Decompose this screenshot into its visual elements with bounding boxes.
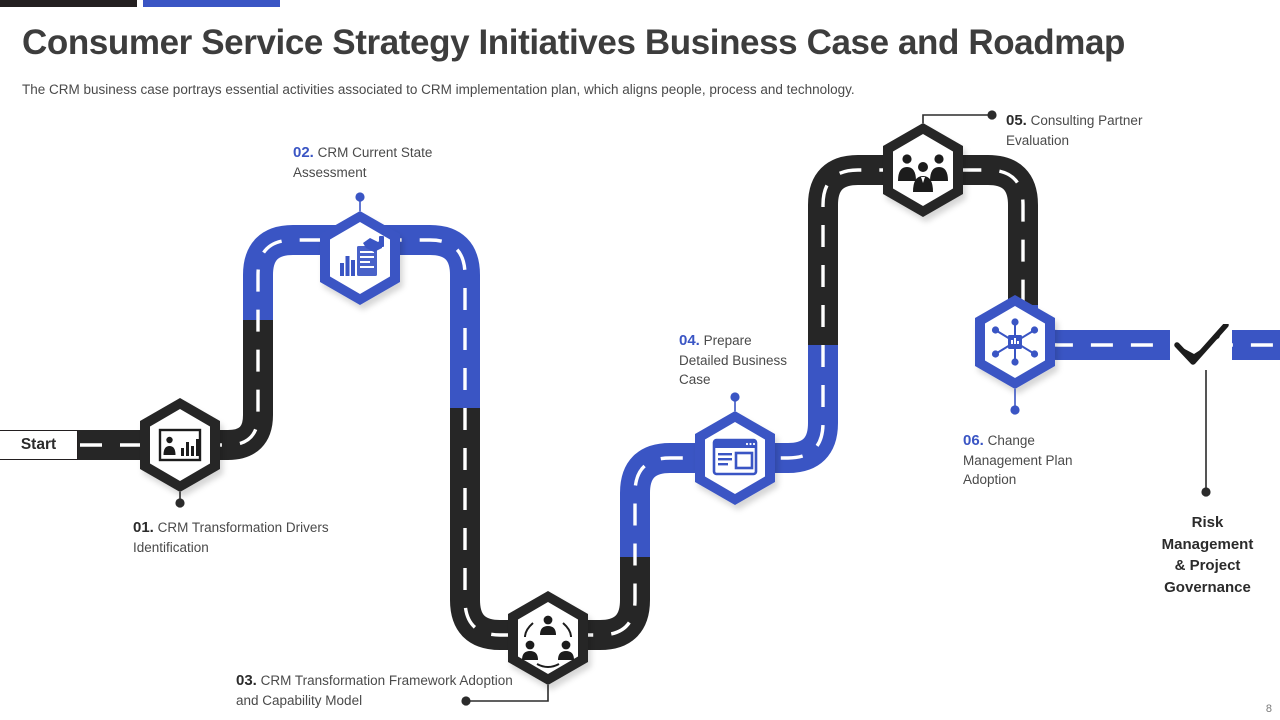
callout-step-5-number: 05. bbox=[1006, 112, 1027, 129]
check-icon bbox=[1170, 322, 1232, 370]
end-label-line-4: Governance bbox=[1130, 577, 1280, 599]
callout-step-2-number: 02. bbox=[293, 144, 314, 161]
callout-step-5-title: Consulting Partner Evaluation bbox=[1006, 113, 1142, 148]
callout-dots bbox=[175, 110, 1210, 705]
end-label-line-3: & Project bbox=[1130, 555, 1280, 577]
callout-step-3-number: 03. bbox=[236, 672, 257, 689]
callout-step-1-number: 01. bbox=[133, 519, 154, 536]
callout-step-3: 03. CRM Transformation Framework Adoptio… bbox=[236, 671, 516, 710]
road-path-graphic bbox=[0, 0, 1280, 720]
roadmap-node-3[interactable] bbox=[508, 591, 588, 685]
end-label-line-2: Management bbox=[1130, 534, 1280, 556]
callout-step-4-number: 04. bbox=[679, 332, 700, 349]
start-badge: Start bbox=[0, 430, 78, 460]
callout-step-6-number: 06. bbox=[963, 432, 984, 449]
callout-step-4: 04. Prepare Detailed Business Case bbox=[679, 331, 799, 390]
callout-step-1-title: CRM Transformation Drivers Identificatio… bbox=[133, 520, 329, 555]
roadmap-node-1[interactable] bbox=[140, 398, 220, 492]
road-segment-6-blue bbox=[1023, 305, 1280, 345]
callout-step-2-title: CRM Current State Assessment bbox=[293, 145, 432, 180]
callout-step-1: 01. CRM Transformation Drivers Identific… bbox=[133, 518, 333, 557]
page-number: 8 bbox=[1266, 703, 1272, 715]
callout-step-3-title: CRM Transformation Framework Adoption an… bbox=[236, 673, 513, 708]
callout-step-6: 06. Change Management Plan Adoption bbox=[963, 431, 1098, 490]
callout-step-5: 05. Consulting Partner Evaluation bbox=[1006, 111, 1196, 150]
end-label-line-1: Risk bbox=[1130, 512, 1280, 534]
callout-step-2: 02. CRM Current State Assessment bbox=[293, 143, 453, 182]
end-label: Risk Management & Project Governance bbox=[1130, 512, 1280, 598]
roadmap-diagram: Start 01. CRM Transformation Drivers Ide… bbox=[0, 0, 1280, 720]
